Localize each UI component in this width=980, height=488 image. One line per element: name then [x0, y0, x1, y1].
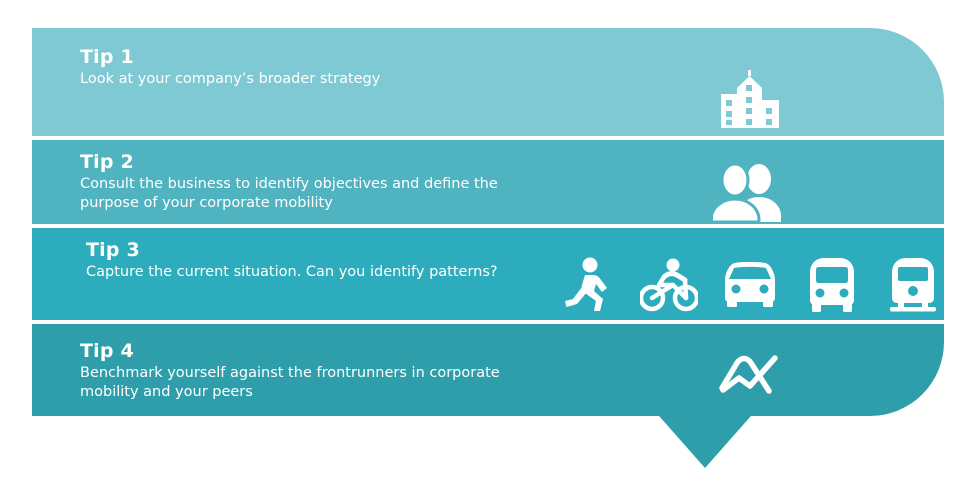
tip-3-description: Capture the current situation. Can you i… — [86, 263, 516, 282]
tip-2-description: Consult the business to identify objecti… — [80, 175, 510, 213]
two-people-icon-glyph — [713, 164, 787, 222]
transport-icons-row — [556, 254, 944, 316]
tip-3-title: Tip 3 — [86, 239, 516, 262]
tip-4-text: Tip 4 Benchmark yourself against the fro… — [80, 340, 510, 402]
bus-icon-glyph — [808, 258, 856, 312]
infographic-root: Tip 1 Look at your company’s broader str… — [0, 0, 980, 488]
tip-3-text: Tip 3 Capture the current situation. Can… — [86, 239, 516, 282]
train-icon-glyph — [889, 258, 937, 312]
two-people-icon — [710, 162, 790, 224]
cyclist-icon — [638, 255, 700, 315]
cyclist-icon-glyph — [640, 258, 698, 312]
office-building-icon — [712, 68, 788, 130]
tip-4-title: Tip 4 — [80, 340, 510, 363]
bus-icon — [801, 255, 863, 315]
tip-1-title: Tip 1 — [80, 46, 510, 69]
tip-1-text: Tip 1 Look at your company’s broader str… — [80, 46, 510, 89]
tip-bar-2[interactable]: Tip 2 Consult the business to identify o… — [32, 140, 652, 224]
tip-4-description: Benchmark yourself against the frontrunn… — [80, 364, 510, 402]
walking-person-icon — [556, 255, 618, 315]
tip-2-title: Tip 2 — [80, 151, 510, 174]
tip-1-description: Look at your company’s broader strategy — [80, 70, 510, 89]
tip-bar-1[interactable]: Tip 1 Look at your company’s broader str… — [32, 28, 652, 136]
train-icon — [882, 255, 944, 315]
office-building-icon-glyph — [715, 70, 785, 128]
analytics-trend-icon-glyph — [719, 353, 781, 397]
car-icon-glyph — [722, 262, 778, 308]
car-icon — [719, 255, 781, 315]
analytics-trend-icon — [712, 348, 788, 402]
walking-person-icon-glyph — [563, 257, 611, 313]
tip-2-text: Tip 2 Consult the business to identify o… — [80, 151, 510, 213]
speech-pointer — [652, 408, 758, 468]
tip-bar-4[interactable]: Tip 4 Benchmark yourself against the fro… — [32, 324, 652, 416]
